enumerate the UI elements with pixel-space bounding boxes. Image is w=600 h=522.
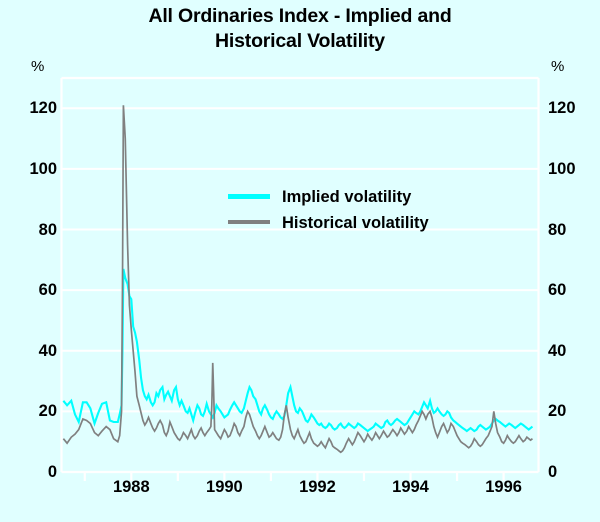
chart-figure: All Ordinaries Index - Implied and Histo… xyxy=(0,0,600,522)
legend-label-implied-volatility: Implied volatility xyxy=(282,186,411,208)
plot-area xyxy=(0,0,600,522)
legend-swatch-implied-volatility xyxy=(228,194,270,199)
legend-swatch-historical-volatility xyxy=(228,220,270,224)
x-tick-marks xyxy=(85,472,504,481)
data-series xyxy=(63,105,532,452)
gridlines xyxy=(62,108,539,472)
legend-label-historical-volatility: Historical volatility xyxy=(282,212,429,234)
plot-frame xyxy=(62,78,539,472)
series-line-historical-volatility xyxy=(63,105,532,452)
